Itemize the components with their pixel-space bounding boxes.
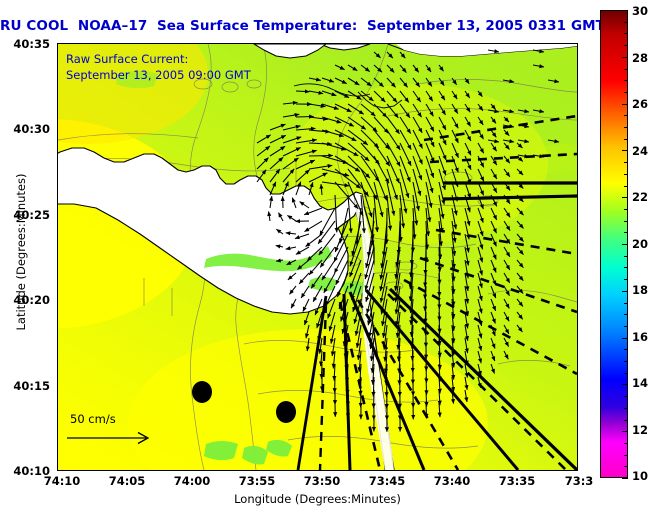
colorbar-tick-5: 20: [632, 237, 648, 251]
y-axis-label: Latitude (Degrees:Minutes): [14, 137, 28, 367]
map-canvas: [58, 44, 577, 470]
colorbar-tick-9: 12: [632, 423, 648, 437]
colorbar-tick-mark: [622, 150, 628, 151]
colorbar-tick-mark: [624, 373, 628, 374]
x-tick-label-2: 74:00: [162, 474, 222, 488]
colorbar-tick-0: 30: [632, 4, 648, 18]
current-vector: [296, 91, 310, 92]
velocity-scale-label: 50 cm/s: [64, 412, 156, 426]
colorbar-tick-1: 28: [632, 51, 648, 65]
colorbar-tick-mark: [624, 127, 628, 128]
colorbar-tick-mark: [624, 232, 628, 233]
x-tick-label-7: 73:35: [487, 474, 547, 488]
colorbar-tick-mark: [624, 361, 628, 362]
x-tick-label-3: 73:55: [227, 474, 287, 488]
colorbar-tick-mark: [624, 396, 628, 397]
colorbar-tick-mark: [624, 69, 628, 70]
x-tick-label-4: 73:50: [292, 474, 352, 488]
colorbar-tick-mark: [622, 384, 628, 385]
current-annotation: Raw Surface Current: September 13, 2005 …: [66, 51, 251, 83]
current-vector: [426, 403, 427, 418]
colorbar-tick-mark: [624, 326, 628, 327]
colorbar-tick-8: 14: [632, 376, 648, 390]
colorbar-tick-6: 18: [632, 283, 648, 297]
colorbar-tick-mark: [624, 80, 628, 81]
figure-title: RU COOL NOAA–17 Sea Surface Temperature:…: [0, 18, 590, 34]
colorbar-tick-mark: [622, 338, 628, 339]
colorbar-tick-mark: [624, 267, 628, 268]
colorbar-tick-mark: [624, 186, 628, 187]
colorbar-tick-mark: [624, 209, 628, 210]
current-annotation-line2: September 13, 2005 09:00 GMT: [66, 68, 251, 82]
colorbar-tick-10: 10: [632, 469, 648, 483]
y-tick-label-4: 40:15: [0, 379, 50, 393]
colorbar-tick-mark: [624, 455, 628, 456]
colorbar-tick-mark: [622, 431, 628, 432]
colorbar-tick-mark: [624, 45, 628, 46]
x-tick-label-0: 74:10: [32, 474, 92, 488]
colorbar-tick-mark: [624, 174, 628, 175]
current-annotation-line1: Raw Surface Current:: [66, 52, 188, 66]
current-vector: [321, 364, 322, 379]
velocity-scale-legend: 50 cm/s: [64, 412, 156, 446]
x-tick-label-5: 73:45: [357, 474, 417, 488]
colorbar-tick-7: 16: [632, 330, 648, 344]
colorbar-tick-mark: [624, 22, 628, 23]
colorbar-tick-2: 26: [632, 97, 648, 111]
colorbar-tick-mark: [624, 221, 628, 222]
colorbar-tick-mark: [622, 244, 628, 245]
colorbar-tick-mark: [624, 349, 628, 350]
colorbar-tick-mark: [624, 420, 628, 421]
station-marker-2: [276, 401, 296, 423]
colorbar-tick-4: 22: [632, 190, 648, 204]
colorbar-tick-mark: [624, 115, 628, 116]
colorbar-tick-mark: [622, 104, 628, 105]
colorbar-tick-mark: [622, 291, 628, 292]
sst-map-figure: RU COOL NOAA–17 Sea Surface Temperature:…: [0, 0, 651, 518]
colorbar-tick-mark: [624, 408, 628, 409]
x-tick-label-1: 74:05: [97, 474, 157, 488]
colorbar-tick-mark: [624, 443, 628, 444]
colorbar-tick-mark: [622, 197, 628, 198]
colorbar-tick-mark: [624, 466, 628, 467]
colorbar-tick-mark: [624, 279, 628, 280]
colorbar-tick-mark: [622, 478, 628, 479]
x-tick-label-6: 73:40: [422, 474, 482, 488]
y-tick-label-1: 40:30: [0, 122, 50, 136]
station-marker-1: [192, 381, 212, 403]
x-axis-label: Longitude (Degrees:Minutes): [57, 492, 578, 506]
colorbar-tick-mark: [624, 162, 628, 163]
colorbar-tick-mark: [624, 92, 628, 93]
colorbar-tick-mark: [622, 57, 628, 58]
map-plot-area[interactable]: Raw Surface Current: September 13, 2005 …: [57, 43, 578, 471]
colorbar-tick-mark: [624, 256, 628, 257]
colorbar-tick-mark: [624, 33, 628, 34]
colorbar-tick-mark: [624, 303, 628, 304]
colorbar-tick-mark: [624, 314, 628, 315]
current-vector: [309, 156, 333, 157]
colorbar-tick-mark: [622, 10, 628, 11]
right-arrow-icon: [64, 426, 156, 446]
colorbar-tick-mark: [624, 139, 628, 140]
colorbar-tick-3: 24: [632, 144, 648, 158]
y-tick-label-0: 40:35: [0, 37, 50, 51]
